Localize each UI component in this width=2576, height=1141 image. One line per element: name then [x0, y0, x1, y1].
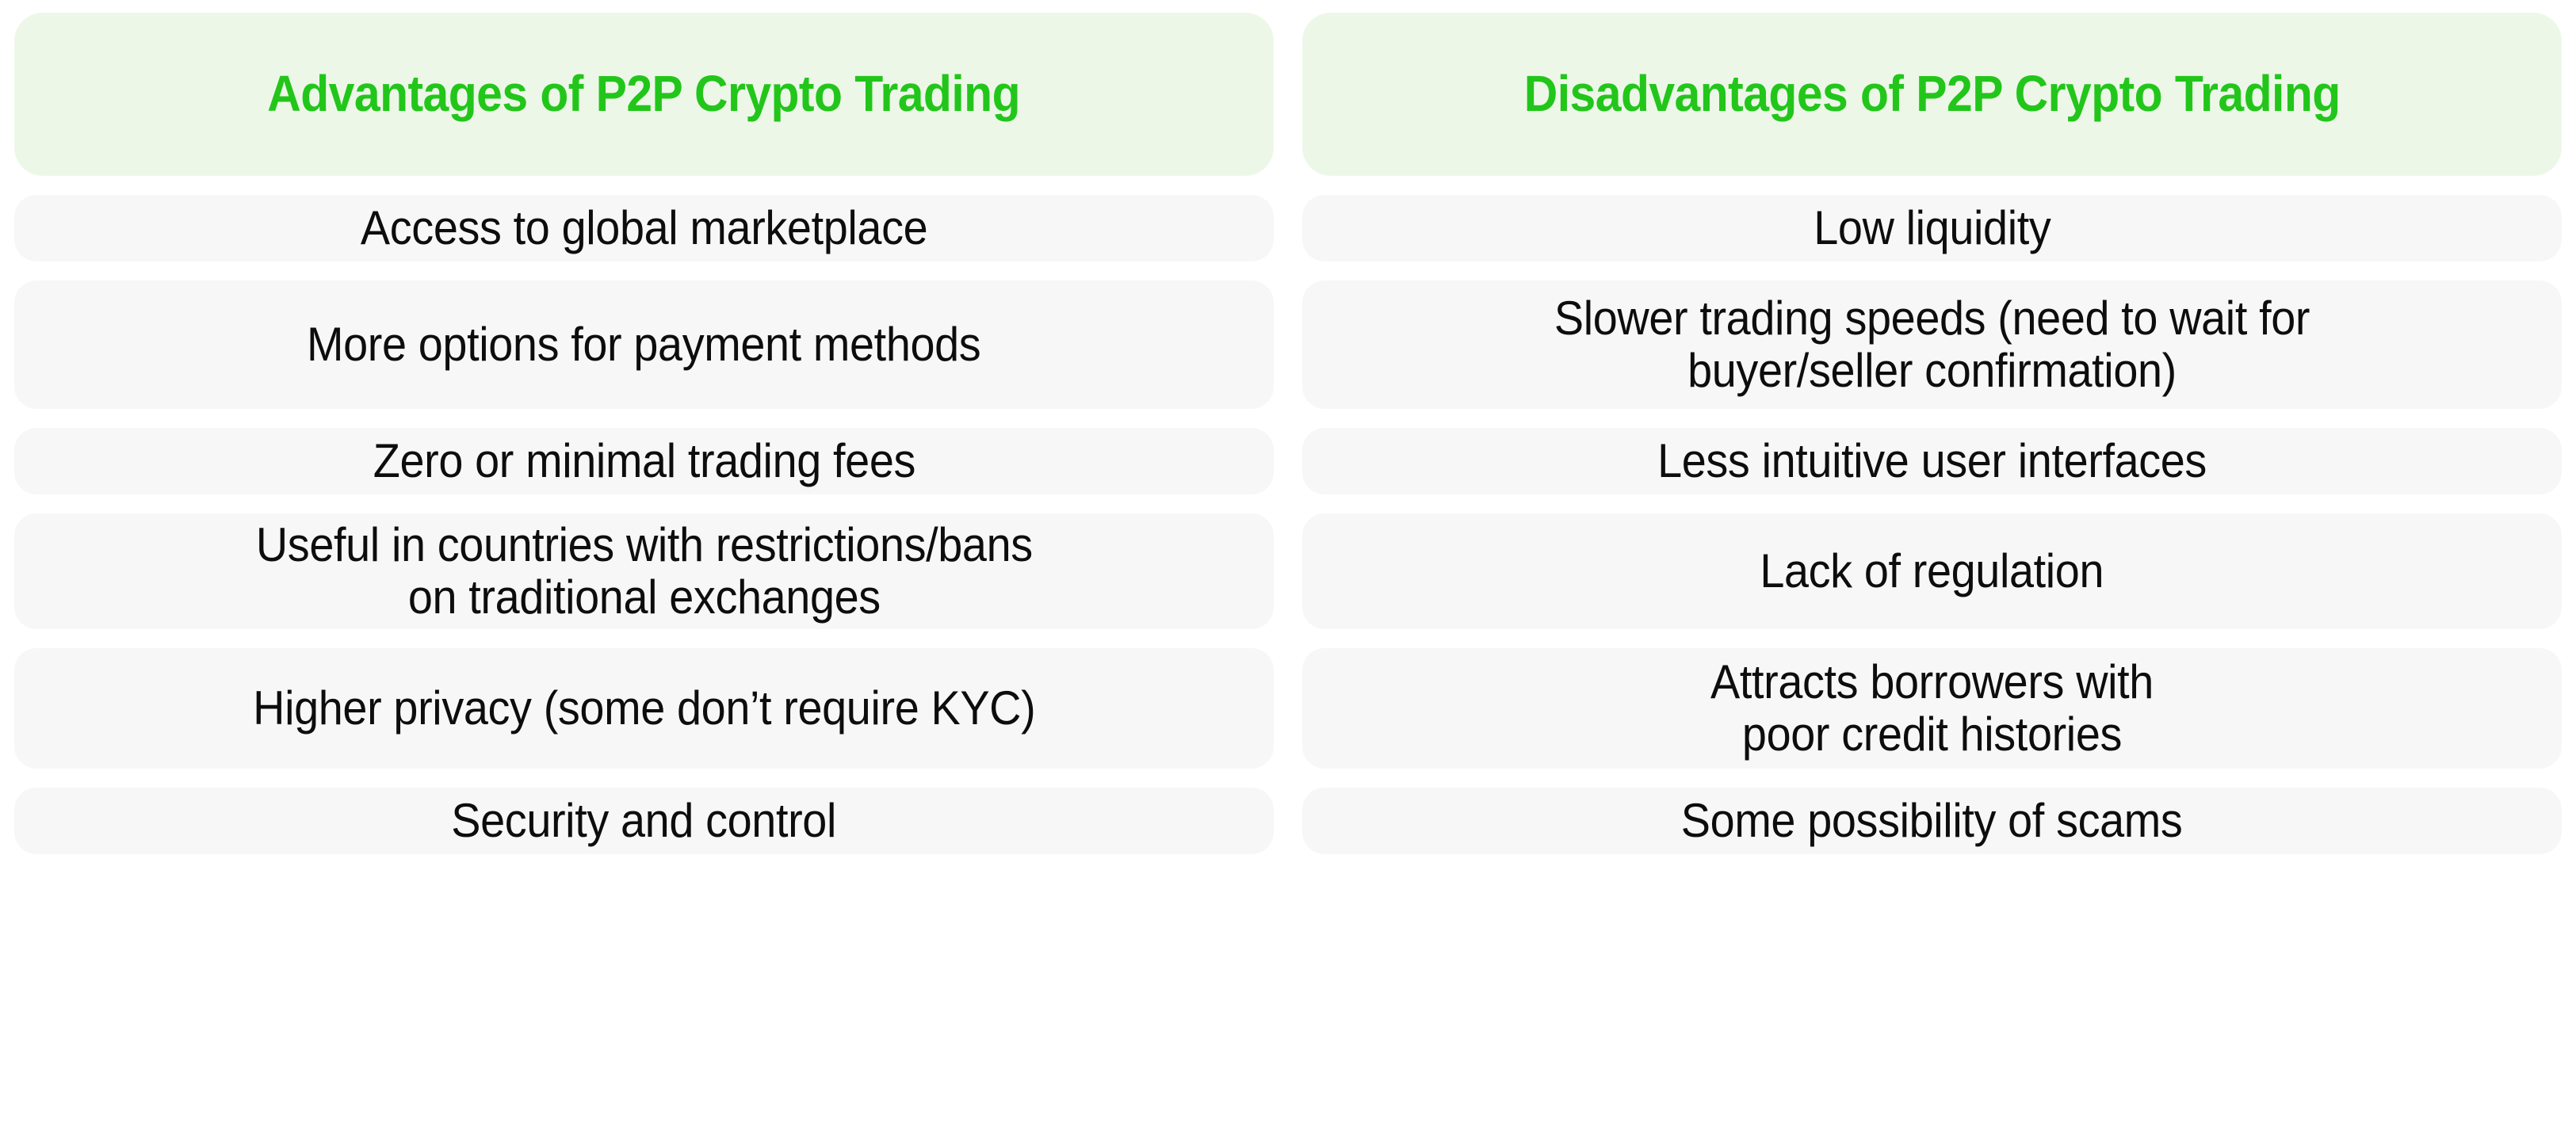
- comparison-table: Advantages of P2P Crypto Trading Access …: [0, 0, 2576, 1141]
- advantages-item-1-label: Access to global marketplace: [361, 202, 927, 254]
- advantages-item-4: Useful in countries with restrictions/ba…: [14, 513, 1274, 629]
- advantages-item-3: Zero or minimal trading fees: [14, 428, 1274, 494]
- advantages-item-6: Security and control: [14, 788, 1274, 854]
- disadvantages-item-2: Slower trading speeds (need to wait for …: [1302, 280, 2562, 409]
- advantages-item-4-label: Useful in countries with restrictions/ba…: [256, 519, 1033, 624]
- advantages-item-5-label: Higher privacy (some don’t require KYC): [253, 682, 1035, 735]
- disadvantages-item-5: Attracts borrowers with poor credit hist…: [1302, 648, 2562, 769]
- advantages-item-3-label: Zero or minimal trading fees: [373, 435, 915, 487]
- advantages-column: Advantages of P2P Crypto Trading Access …: [14, 13, 1274, 1141]
- advantages-item-5: Higher privacy (some don’t require KYC): [14, 648, 1274, 769]
- advantages-item-1: Access to global marketplace: [14, 195, 1274, 261]
- disadvantages-column: Disadvantages of P2P Crypto Trading Low …: [1302, 13, 2562, 1141]
- disadvantages-item-6: Some possibility of scams: [1302, 788, 2562, 854]
- advantages-header-title: Advantages of P2P Crypto Trading: [268, 67, 1021, 121]
- disadvantages-item-1-label: Low liquidity: [1814, 202, 2050, 254]
- disadvantages-item-1: Low liquidity: [1302, 195, 2562, 261]
- disadvantages-item-3-label: Less intuitive user interfaces: [1657, 435, 2207, 487]
- disadvantages-item-5-label: Attracts borrowers with poor credit hist…: [1710, 656, 2154, 761]
- disadvantages-item-2-label: Slower trading speeds (need to wait for …: [1554, 292, 2310, 397]
- disadvantages-item-4-label: Lack of regulation: [1760, 545, 2104, 597]
- advantages-item-2-label: More options for payment methods: [307, 319, 980, 371]
- advantages-header: Advantages of P2P Crypto Trading: [14, 13, 1274, 176]
- advantages-item-6-label: Security and control: [452, 795, 837, 847]
- disadvantages-item-3: Less intuitive user interfaces: [1302, 428, 2562, 494]
- disadvantages-header: Disadvantages of P2P Crypto Trading: [1302, 13, 2562, 176]
- disadvantages-item-4: Lack of regulation: [1302, 513, 2562, 629]
- disadvantages-header-title: Disadvantages of P2P Crypto Trading: [1524, 67, 2341, 121]
- advantages-item-2: More options for payment methods: [14, 280, 1274, 409]
- disadvantages-item-6-label: Some possibility of scams: [1681, 795, 2183, 847]
